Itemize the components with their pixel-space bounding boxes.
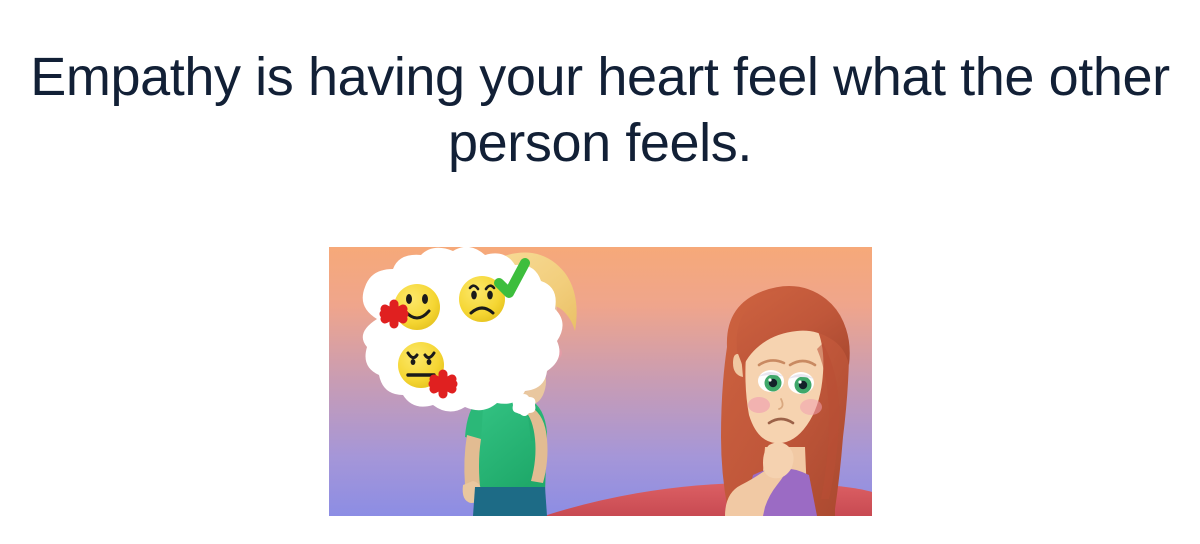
boy-pants bbox=[473, 487, 547, 516]
girl-cheek-right bbox=[800, 399, 822, 415]
girl-eye-glint-right bbox=[798, 380, 801, 383]
slide-canvas: Empathy is having your heart feel what t… bbox=[0, 0, 1200, 544]
red-x-mark-happy bbox=[384, 304, 404, 324]
thought-bubble-cloud bbox=[363, 247, 563, 412]
empathy-illustration bbox=[329, 247, 872, 516]
girl-cheek-left bbox=[748, 397, 770, 413]
sad-eye-right bbox=[487, 291, 493, 300]
happy-eye-right bbox=[422, 294, 428, 304]
happy-eye-left bbox=[406, 294, 412, 304]
girl-character bbox=[721, 286, 850, 516]
angry-eye-left bbox=[411, 359, 416, 365]
red-x-mark-angry bbox=[433, 374, 453, 394]
girl-eye-glint-left bbox=[768, 378, 771, 381]
angry-eye-right bbox=[427, 359, 432, 365]
sad-eye-left bbox=[471, 291, 477, 300]
page-title: Empathy is having your heart feel what t… bbox=[20, 44, 1180, 176]
